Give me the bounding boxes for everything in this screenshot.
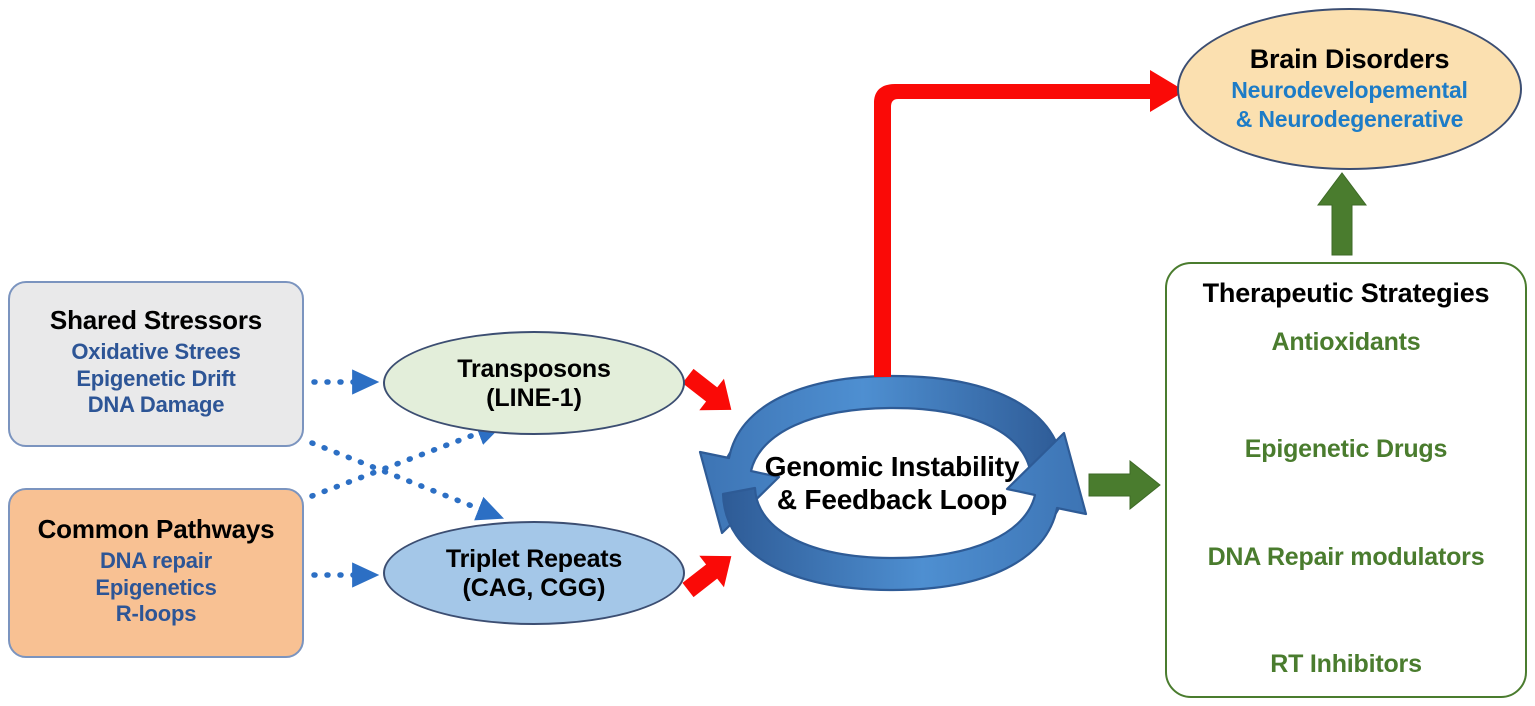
transposons-ellipse[interactable]: Transposons (LINE-1) [383,331,685,435]
edge-genomic-loop-to-therapeutic-strategies [1089,461,1160,509]
common-pathways-box[interactable]: Common Pathways DNA repair Epigenetics R… [8,488,304,658]
triplet-repeats-ellipse[interactable]: Triplet Repeats (CAG, CGG) [383,521,685,625]
shared-stressors-item-3: DNA Damage [88,393,225,418]
diagram-canvas: Shared Stressors Oxidative Strees Epigen… [0,0,1535,706]
brain-disorders-subtitle-line2: & Neurodegenerative [1236,105,1464,134]
shared-stressors-item-2: Epigenetic Drift [76,367,235,392]
edge-therapeutic-strategies-to-brain-disorders [1318,173,1366,255]
transposons-label-line1: Transposons [457,355,610,383]
therapy-item-antioxidants: Antioxidants [1272,328,1421,356]
therapy-item-epigenetic-drugs: Epigenetic Drugs [1245,435,1447,463]
edge-genomic-loop-to-brain-disorders [874,70,1185,377]
common-pathways-title: Common Pathways [38,515,275,544]
brain-disorders-subtitle-line1: Neurodevelopemental [1231,76,1468,105]
edge-common-pathways-to-transposons [312,425,500,496]
triplet-repeats-label-line1: Triplet Repeats [446,545,622,573]
shared-stressors-item-1: Oxidative Strees [71,340,240,365]
edge-shared-stressors-to-triplet-repeats [312,443,500,517]
therapeutic-strategies-box[interactable]: Therapeutic Strategies Antioxidants Epig… [1165,262,1527,698]
common-pathways-item-3: R-loops [116,602,196,627]
edge-transposons-to-genomic-loop [676,360,744,425]
genomic-loop-label-line2: & Feedback Loop [777,483,1007,516]
therapy-item-rt-inhibitors: RT Inhibitors [1270,650,1422,678]
therapy-item-dna-repair-modulators: DNA Repair modulators [1208,543,1485,571]
therapeutic-strategies-list: Antioxidants Epigenetic Drugs DNA Repair… [1167,328,1525,696]
genomic-loop-label-line1: Genomic Instability [765,450,1019,483]
brain-disorders-title: Brain Disorders [1250,44,1450,74]
brain-disorders-ellipse[interactable]: Brain Disorders Neurodevelopemental & Ne… [1177,8,1522,170]
therapeutic-strategies-title: Therapeutic Strategies [1203,278,1490,308]
transposons-label-line2: (LINE-1) [486,384,582,412]
triplet-repeats-label-line2: (CAG, CGG) [462,574,605,602]
common-pathways-item-1: DNA repair [100,549,212,574]
shared-stressors-title: Shared Stressors [50,306,262,335]
edge-triplet-repeats-to-genomic-loop [676,540,744,605]
common-pathways-item-2: Epigenetics [95,576,216,601]
shared-stressors-box[interactable]: Shared Stressors Oxidative Strees Epigen… [8,281,304,447]
genomic-loop-label: Genomic Instability & Feedback Loop [742,437,1042,529]
